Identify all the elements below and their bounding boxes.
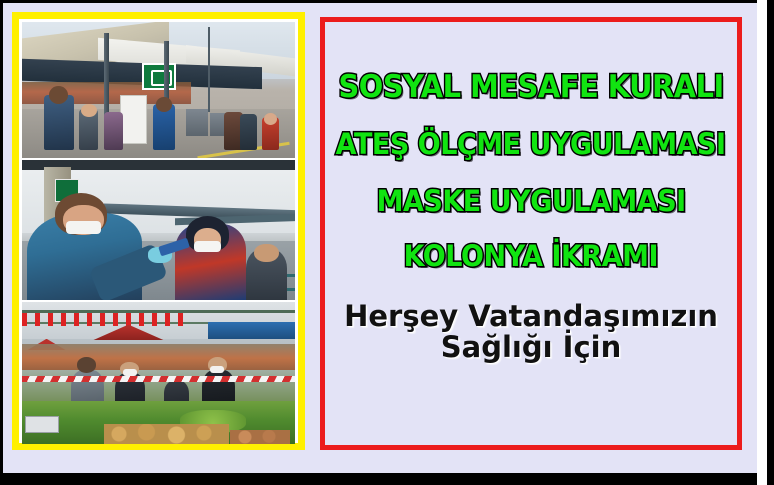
green-info-sign-icon xyxy=(142,63,176,90)
person-head xyxy=(49,86,68,104)
flag-bunting xyxy=(22,313,186,326)
barrier-tape xyxy=(22,376,295,382)
potato-pile xyxy=(104,424,230,444)
headline-social-distance: SOSYAL MESAFE KURALI xyxy=(338,72,723,103)
person-head xyxy=(77,357,96,373)
face-mask-icon xyxy=(66,221,101,234)
message-lines: SOSYAL MESAFE KURALI ATEŞ ÖLÇME UYGULAMA… xyxy=(325,22,737,445)
person-shopper xyxy=(240,114,256,149)
person-officer xyxy=(44,95,74,149)
subtext-line-1: Herşey Vatandaşımızın xyxy=(344,301,718,332)
blue-canopy-tent xyxy=(208,322,295,339)
headline-mask-requirement: MASKE UYGULAMASI xyxy=(376,187,685,216)
poster-root: SOSYAL MESAFE KURALI ATEŞ ÖLÇME UYGULAMA… xyxy=(0,0,774,485)
temperature-check-photo xyxy=(22,160,295,300)
support-pole xyxy=(208,27,210,111)
right-white-margin xyxy=(757,0,767,485)
subtext-line-2: Sağlığı İçin xyxy=(441,332,621,363)
onion-pile xyxy=(230,430,290,444)
face-mask-icon xyxy=(123,369,137,376)
face-mask-icon xyxy=(194,241,221,252)
headline-cologne-offering: KOLONYA İKRAMI xyxy=(404,242,658,271)
background-stalls xyxy=(22,344,295,370)
waste-bin xyxy=(186,109,208,136)
person-head xyxy=(156,97,172,112)
message-panel: SOSYAL MESAFE KURALI ATEŞ ÖLÇME UYGULAMA… xyxy=(320,17,742,450)
person-head xyxy=(254,244,279,262)
person-head xyxy=(81,104,97,118)
person-shopper xyxy=(104,112,123,150)
headline-temperature-check: ATEŞ ÖLÇME UYGULAMASI xyxy=(336,130,726,159)
notice-board xyxy=(120,95,147,143)
weighing-scale xyxy=(25,416,60,432)
face-mask-icon xyxy=(210,366,224,373)
produce-stall-photo xyxy=(22,302,295,444)
photo-collage xyxy=(12,12,305,450)
market-overview-photo xyxy=(22,22,295,158)
